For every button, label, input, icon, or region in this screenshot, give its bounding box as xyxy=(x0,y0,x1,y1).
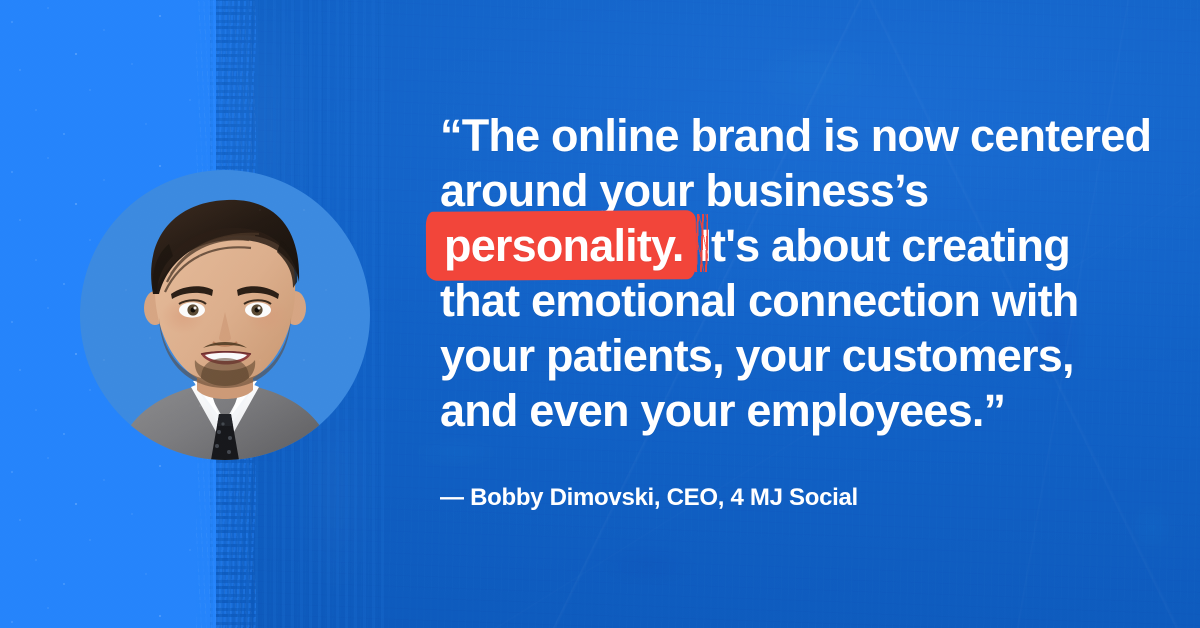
avatar-disc xyxy=(80,170,370,460)
quote-line-6: and even your employees. xyxy=(440,385,984,436)
quote-line-4: that emotional connection with xyxy=(440,275,1079,326)
quote-block: “The online brand is now centered around… xyxy=(440,108,1152,512)
highlighted-phrase: personality. xyxy=(440,220,688,271)
attribution: — Bobby Dimovski, CEO, 4 MJ Social xyxy=(440,484,1152,512)
portrait-image xyxy=(109,190,341,460)
quote-line-5: your patients, your customers, xyxy=(440,330,1074,381)
quote-card: “The online brand is now centered around… xyxy=(0,0,1200,628)
quote-line-1: The online brand is now xyxy=(462,110,959,161)
quote-text: “The online brand is now centered around… xyxy=(440,108,1152,438)
open-quote-mark: “ xyxy=(440,110,462,161)
close-quote-mark: ” xyxy=(984,385,1006,436)
quote-line-3-rest: It's about creating xyxy=(699,220,1070,271)
avatar xyxy=(80,170,370,460)
